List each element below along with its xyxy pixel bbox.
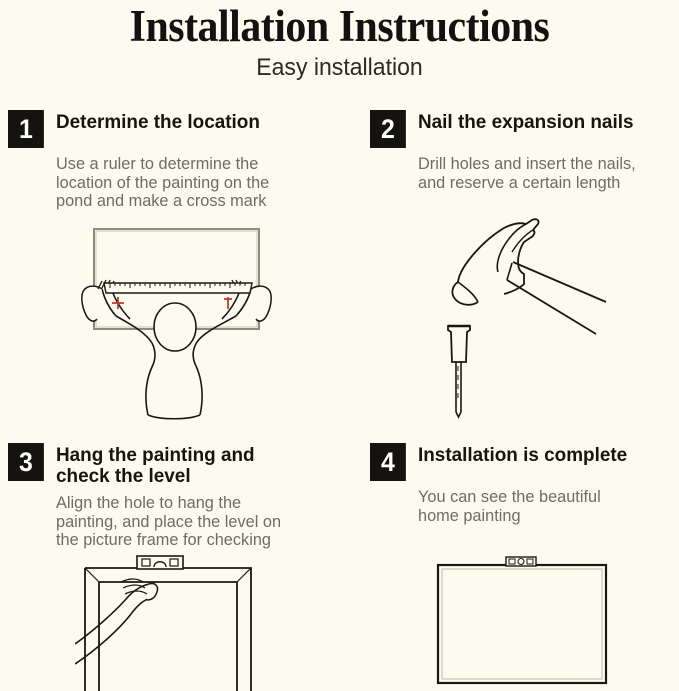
step-2: 2 Nail the expansion nails Drill holes a… [370, 108, 679, 192]
step-4-number-badge: 4 [370, 443, 406, 481]
step-4-header: 4 Installation is complete [370, 441, 679, 481]
poster-header: Installation Instructions Easy installat… [0, 0, 679, 82]
page-title: Installation Instructions [24, 1, 655, 51]
step-3-header: 3 Hang the painting and check the level [8, 441, 338, 487]
step-3: 3 Hang the painting and check the level … [8, 441, 338, 550]
handle-top-edge [513, 262, 606, 302]
step-2-header: 2 Nail the expansion nails [370, 108, 679, 148]
nail-tip [456, 412, 461, 417]
level-window-right [527, 559, 533, 564]
step-1-title: Determine the location [56, 108, 330, 133]
handle-bottom-edge [507, 280, 596, 334]
step-2-number-badge: 2 [370, 110, 406, 148]
frame-corner-bevel-right [237, 568, 251, 582]
step-4-title: Installation is complete [418, 441, 679, 466]
step-1-description: Use a ruler to determine the location of… [56, 155, 327, 211]
step-1-header: 1 Determine the location [8, 108, 338, 148]
illustration-level-on-frame [75, 552, 295, 691]
step-4-description: You can see the beautiful home painting [418, 488, 679, 525]
step-2-title: Nail the expansion nails [418, 108, 679, 133]
step-3-title: Hang the painting and check the level [56, 441, 330, 487]
illustration-hung-painting-complete [432, 555, 632, 691]
step-2-description: Drill holes and insert the nails, and re… [418, 155, 679, 192]
head-outline [154, 303, 196, 351]
frame-corner-bevel-left [85, 568, 99, 582]
step-3-number-badge: 3 [8, 443, 44, 481]
step-1: 1 Determine the location Use a ruler to … [8, 108, 338, 211]
hand-knuckles [147, 583, 158, 600]
level-bubble-vial [518, 559, 524, 565]
frame-outer-edge [85, 568, 251, 691]
page-subtitle: Easy installation [14, 54, 666, 82]
illustration-person-holding-painting [60, 215, 350, 425]
body-right-outline [193, 316, 236, 415]
step-1-number-badge: 1 [8, 110, 44, 148]
level-window-left [509, 559, 515, 564]
installation-instructions-poster: Installation Instructions Easy installat… [0, 0, 679, 691]
frame-inner-edge [99, 582, 237, 691]
anchor-sleeve [448, 326, 470, 362]
illustration-hammer-and-nail [400, 198, 679, 428]
step-4: 4 Installation is complete You can see t… [370, 441, 679, 525]
spirit-level-window-right [170, 559, 178, 566]
body-bottom-outline [148, 415, 200, 419]
spirit-level-vial [154, 562, 166, 567]
hung-frame-inner [442, 569, 602, 679]
spirit-level-window-left [142, 559, 150, 566]
forearm-lower-edge [75, 598, 151, 664]
body-left-outline [116, 316, 155, 415]
step-3-description: Align the hole to hang the painting, and… [56, 494, 327, 550]
